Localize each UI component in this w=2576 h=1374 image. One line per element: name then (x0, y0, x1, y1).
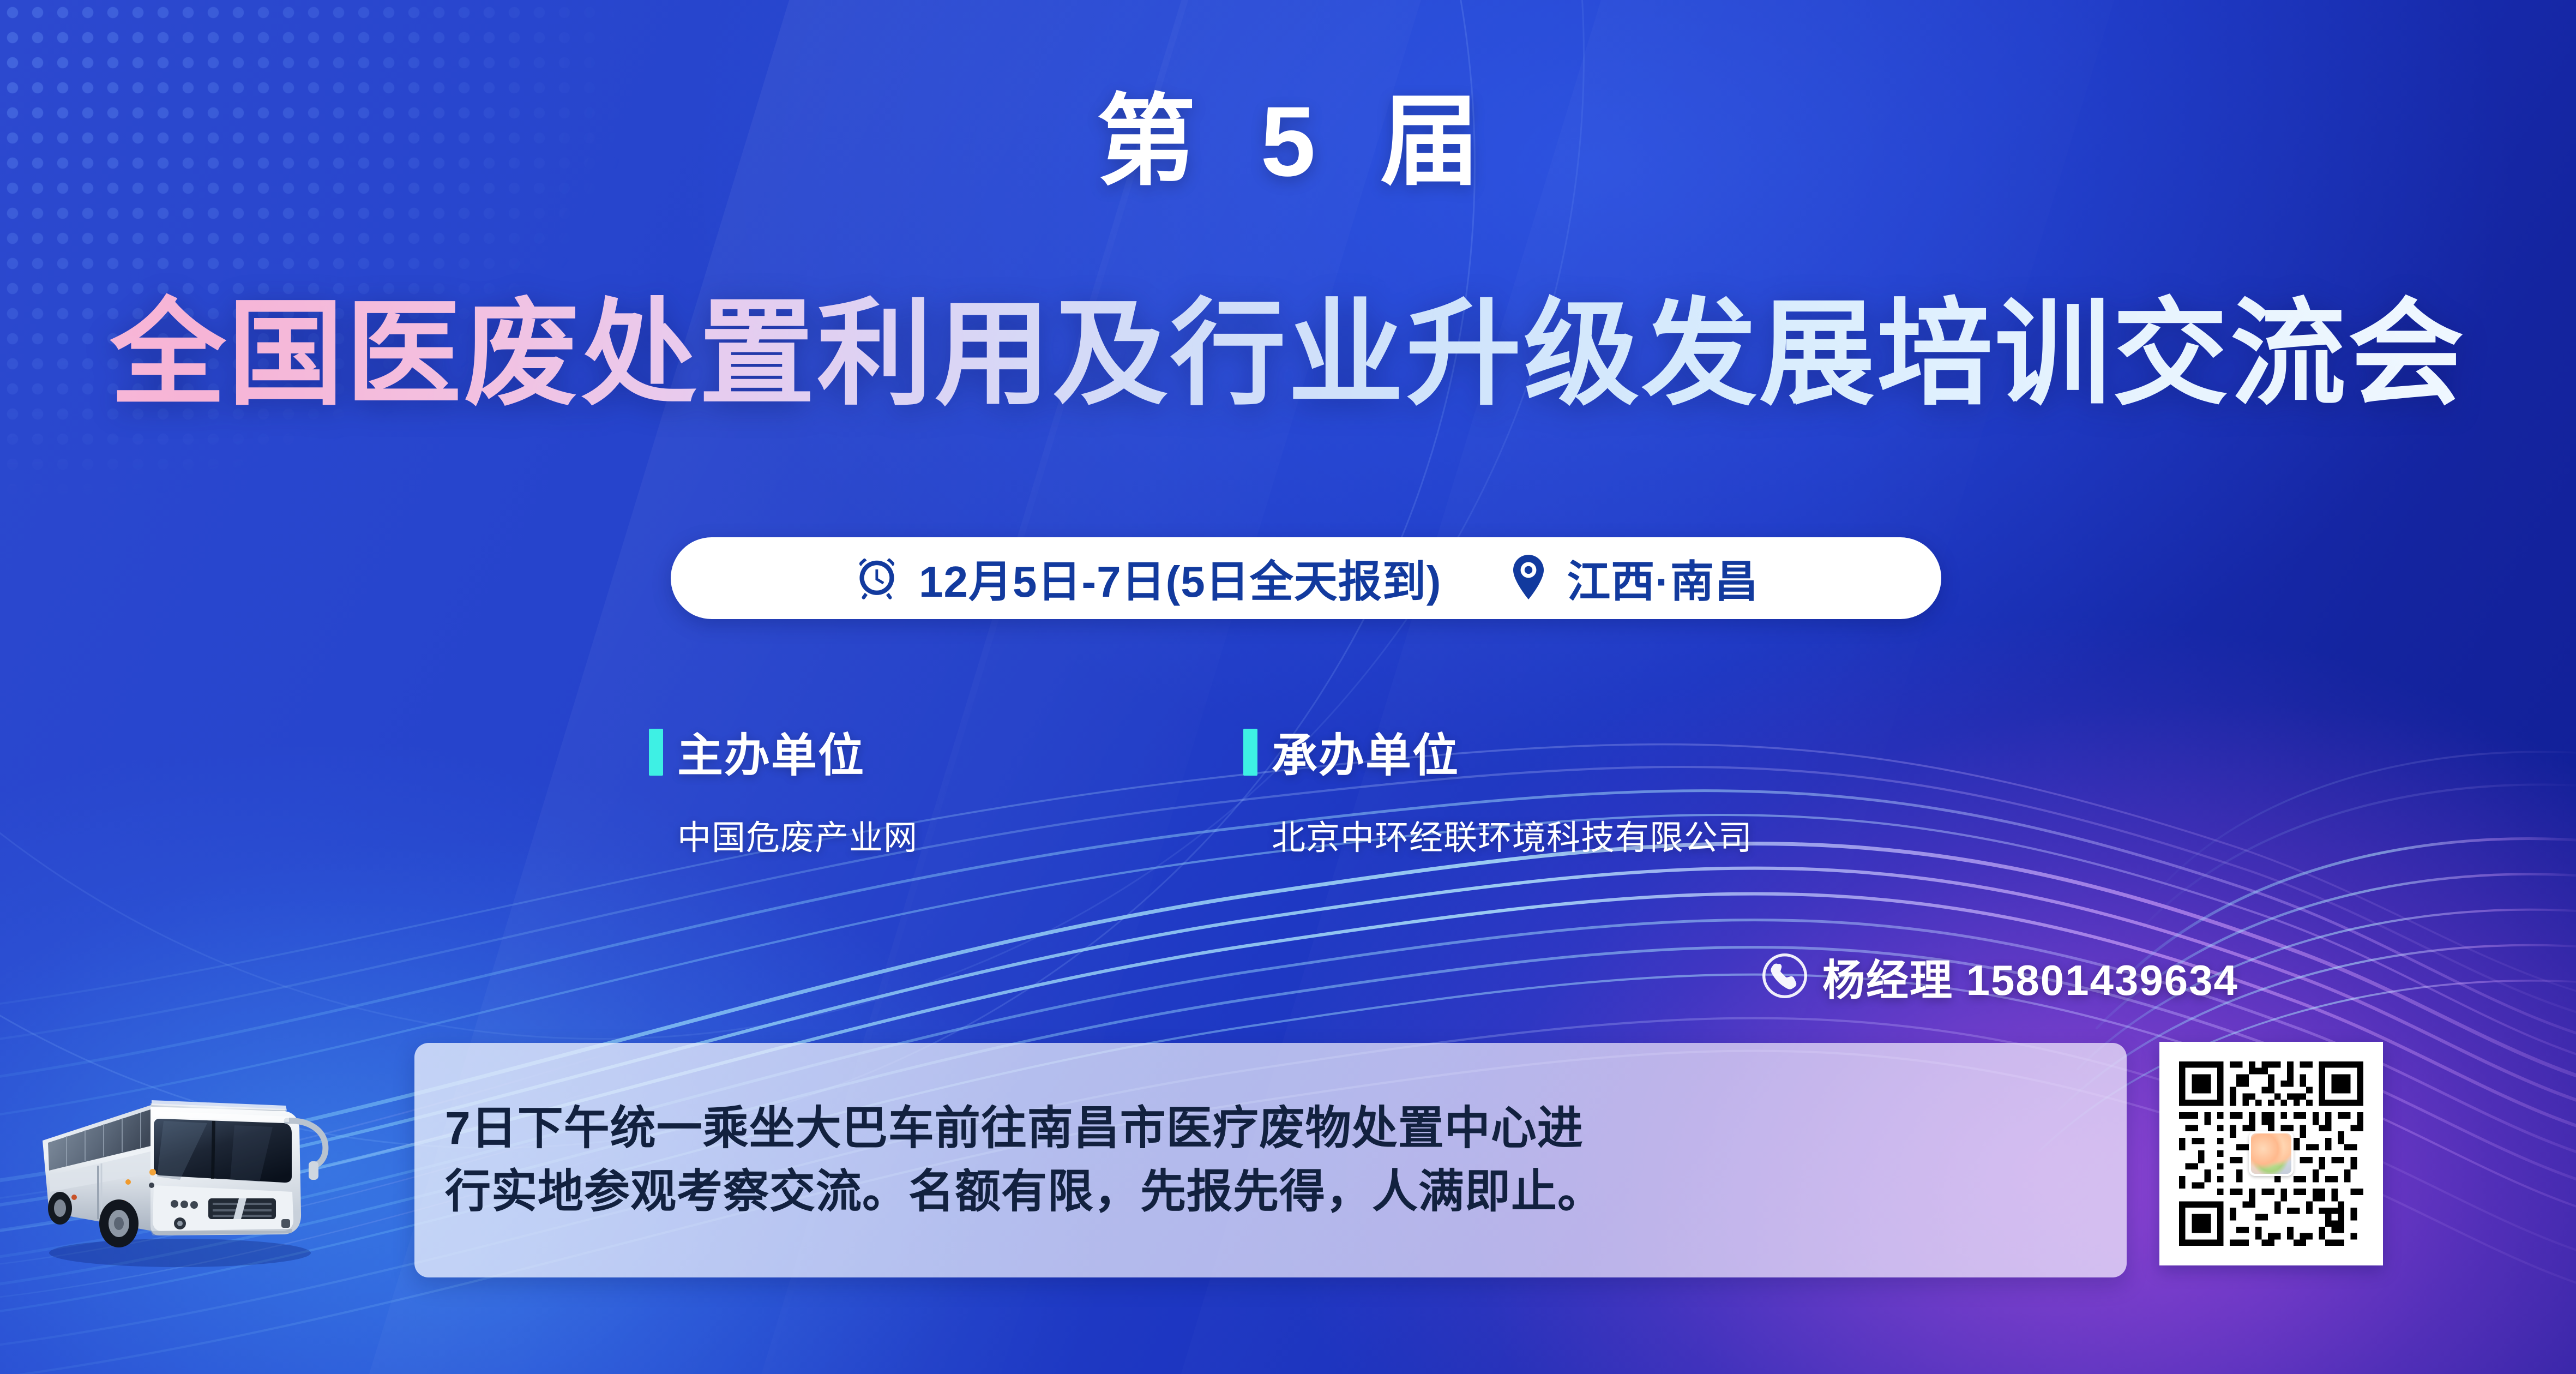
accent-bar-icon (649, 729, 663, 776)
event-location: 江西·南昌 (1567, 547, 1759, 610)
accent-bar-icon (1243, 729, 1257, 776)
notice-box: 7日下午统一乘坐大巴车前往南昌市医疗废物处置中心进 行实地参观考察交流。名额有限… (414, 1043, 2127, 1277)
co-organizer: 承办单位 北京中环经联环境科技有限公司 (1243, 719, 1753, 859)
phone-circle-icon (1761, 952, 1808, 1002)
edition-title: 第 5 届 (0, 92, 2576, 191)
notice-line-1: 7日下午统一乘坐大巴车前往南昌市医疗废物处置中心进 (445, 1097, 1604, 1160)
main-headline: 全国医废处置利用及行业升级发展培训交流会 (0, 289, 2576, 418)
location-pin-icon (1509, 554, 1548, 603)
host-organizer: 主办单位 中国危废产业网 (649, 719, 918, 859)
event-poster: 第 5 届 全国医废处置利用及行业升级发展培训交流会 12月5日-7日(5日全天… (0, 0, 2576, 1374)
co-organizer-name: 北京中环经联环境科技有限公司 (1272, 810, 1753, 859)
contact-name-phone: 杨经理 15801439634 (1822, 946, 2238, 1007)
alarm-clock-icon (853, 554, 900, 603)
contact-info: 杨经理 15801439634 (1761, 946, 2238, 1007)
co-organizer-title: 承办单位 (1272, 719, 1459, 785)
qr-code-card[interactable] (2159, 1042, 2383, 1265)
host-organizer-name: 中国危废产业网 (677, 810, 918, 859)
flower-bouquet-avatar (2249, 1131, 2294, 1176)
notice-line-2: 行实地参观考察交流。名额有限，先报先得，人满即止。 (445, 1160, 1604, 1223)
date-location-pill: 12月5日-7日(5日全天报到) 江西·南昌 (671, 537, 1941, 619)
notice-text: 7日下午统一乘坐大巴车前往南昌市医疗废物处置中心进 行实地参观考察交流。名额有限… (445, 1097, 1604, 1223)
event-date: 12月5日-7日(5日全天报到) (919, 547, 1441, 610)
host-organizer-title: 主办单位 (677, 719, 865, 785)
coach-bus-illustration (16, 1039, 354, 1274)
